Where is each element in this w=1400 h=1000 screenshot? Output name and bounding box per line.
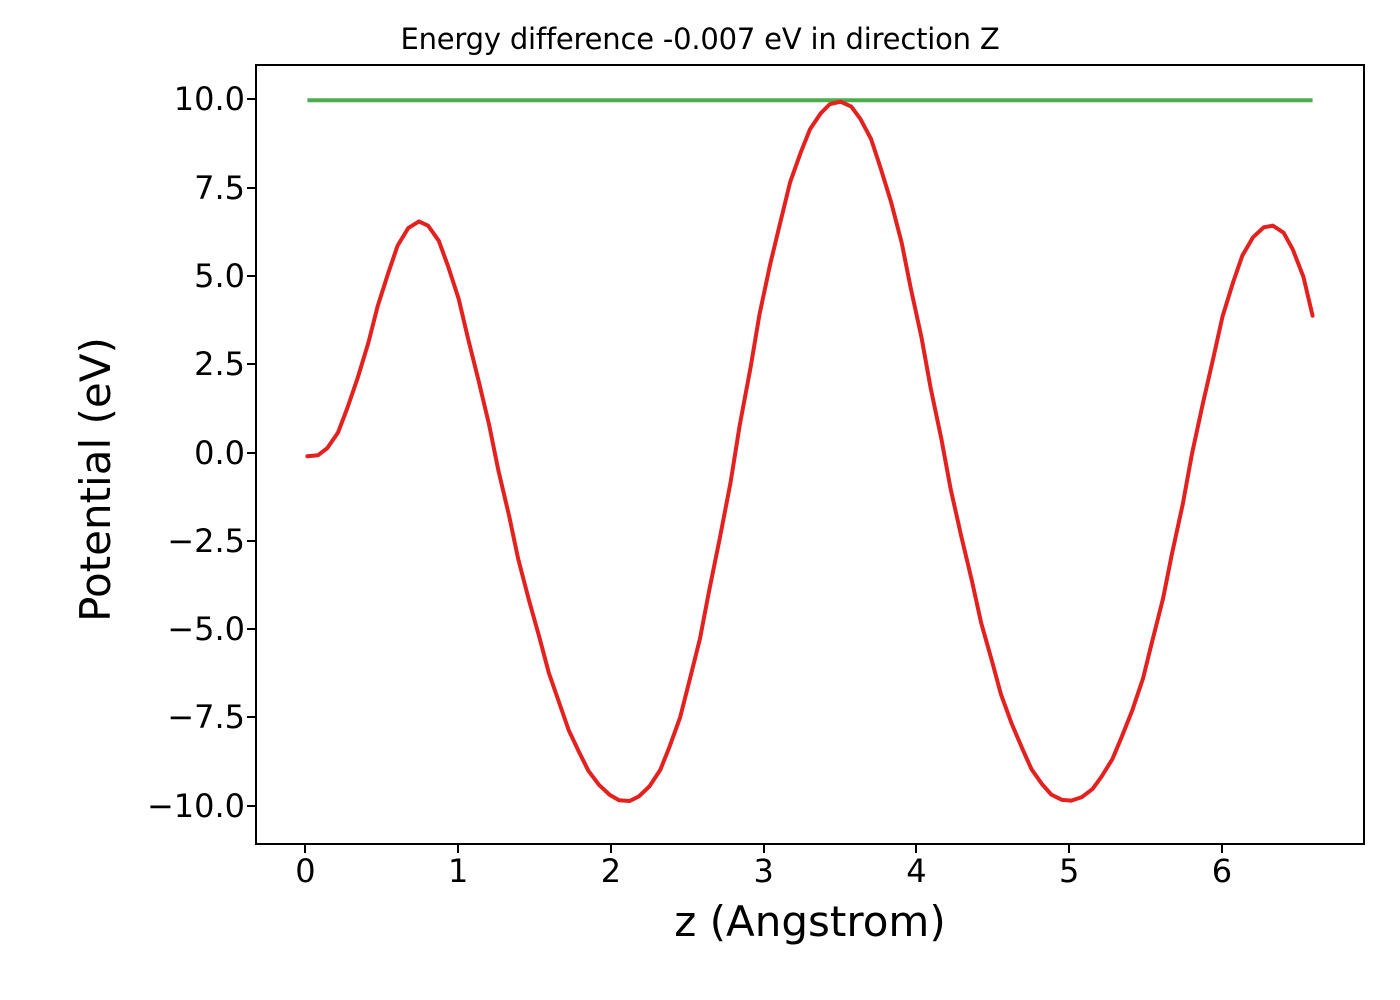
y-tick-label: −2.5 <box>167 525 245 557</box>
plot-canvas <box>257 66 1363 843</box>
y-tick-label: −5.0 <box>167 613 245 645</box>
x-tick-label: 4 <box>906 855 926 887</box>
x-tick-label: 2 <box>601 855 621 887</box>
y-tick-label: 7.5 <box>194 172 245 204</box>
y-tick-label: 0.0 <box>194 437 245 469</box>
chart-figure: Energy difference -0.007 eV in direction… <box>0 0 1400 1000</box>
y-tick-mark <box>247 716 255 718</box>
y-tick-mark <box>247 628 255 630</box>
x-axis-label: z (Angstrom) <box>255 897 1365 946</box>
y-tick-mark <box>247 187 255 189</box>
y-tick-mark <box>247 98 255 100</box>
y-tick-mark <box>247 363 255 365</box>
chart-title: Energy difference -0.007 eV in direction… <box>0 22 1400 56</box>
x-tick-label: 5 <box>1059 855 1079 887</box>
x-tick-label: 0 <box>295 855 315 887</box>
y-tick-label: 10.0 <box>174 83 245 115</box>
y-tick-label: −10.0 <box>147 790 245 822</box>
y-tick-mark <box>247 540 255 542</box>
y-tick-label: 5.0 <box>194 260 245 292</box>
x-tick-label: 1 <box>448 855 468 887</box>
plot-area <box>255 64 1365 845</box>
potential-curve-line <box>307 102 1312 801</box>
y-axis-label: Potential (eV) <box>71 89 120 870</box>
y-tick-mark <box>247 452 255 454</box>
y-tick-mark <box>247 805 255 807</box>
x-tick-label: 6 <box>1212 855 1232 887</box>
y-tick-mark <box>247 275 255 277</box>
y-tick-label: 2.5 <box>194 348 245 380</box>
y-tick-label: −7.5 <box>167 701 245 733</box>
x-tick-label: 3 <box>754 855 774 887</box>
